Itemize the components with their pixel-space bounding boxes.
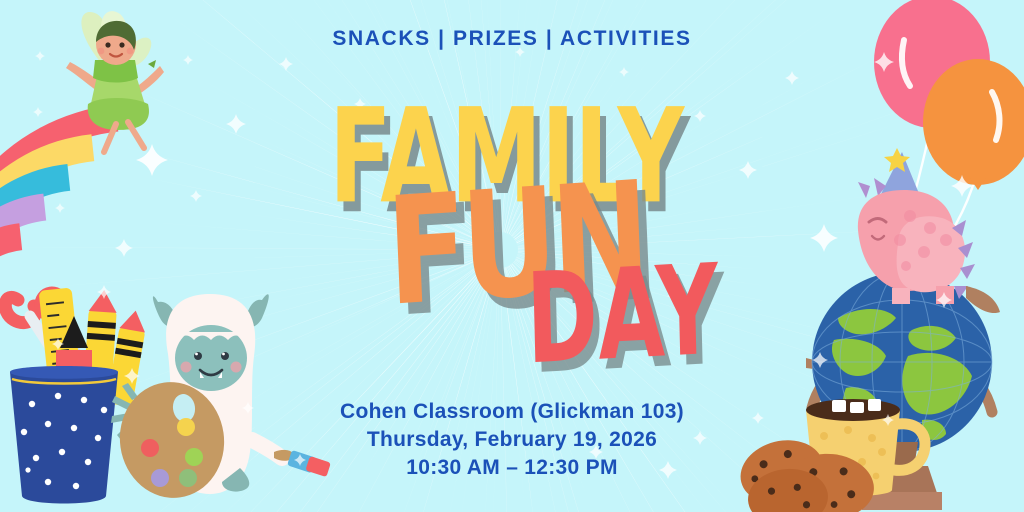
event-date: Thursday, February 19, 2026 — [0, 426, 1024, 454]
eyebrow-text: SNACKS | PRIZES | ACTIVITIES — [0, 27, 1024, 51]
event-details: Cohen Classroom (Glickman 103) Thursday,… — [0, 398, 1024, 482]
poster-canvas: SNACKS | PRIZES | ACTIVITIES FAMILY FUN … — [0, 0, 1024, 512]
event-time: 10:30 AM – 12:30 PM — [0, 454, 1024, 482]
event-location: Cohen Classroom (Glickman 103) — [0, 398, 1024, 426]
